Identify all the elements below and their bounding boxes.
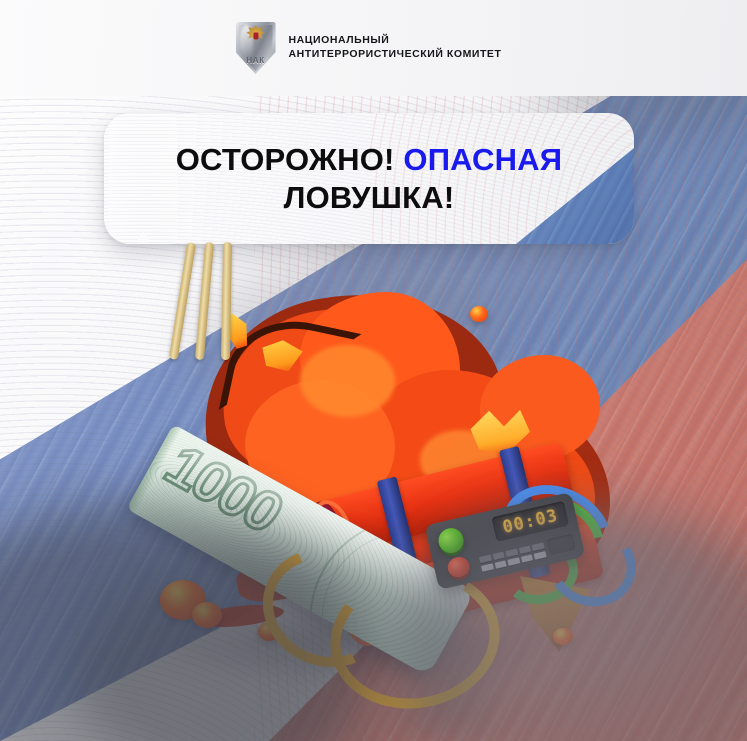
poster: НАК НАЦИОНАЛЬНЫЙ АНТИТЕРРОРИСТИЧЕСКИЙ КО… <box>0 0 747 741</box>
ember <box>553 628 573 645</box>
eagle-breast-shield-icon <box>253 33 258 40</box>
keypad-key <box>532 542 545 550</box>
organization-name: НАЦИОНАЛЬНЫЙ АНТИТЕРРОРИСТИЧЕСКИЙ КОМИТЕ… <box>289 34 502 62</box>
keypad-key <box>508 557 521 565</box>
emblem-abbreviation: НАК <box>236 56 276 65</box>
header-bar: НАК НАЦИОНАЛЬНЫЙ АНТИТЕРРОРИСТИЧЕСКИЙ КО… <box>0 0 747 96</box>
bomb-illustration: 1000 00:03 <box>0 250 747 741</box>
title-line-2: ЛОВУШКА! <box>284 180 455 216</box>
keypad-key <box>481 563 494 571</box>
title-line-1: ОСТОРОЖНО! ОПАСНАЯ <box>176 142 563 178</box>
keypad-key <box>492 552 505 560</box>
org-name-line2: АНТИТЕРРОРИСТИЧЕСКИЙ КОМИТЕТ <box>289 48 502 62</box>
rubber-band <box>169 242 196 360</box>
keypad-key <box>519 545 532 553</box>
title-accent-text: ОПАСНАЯ <box>403 142 562 177</box>
keypad-key <box>521 554 534 562</box>
timer-digits: 00:03 <box>501 505 560 537</box>
title-card: ОСТОРОЖНО! ОПАСНАЯ ЛОВУШКА! <box>104 113 634 244</box>
red-button-icon <box>446 555 472 579</box>
timer-display: 00:03 <box>491 501 569 542</box>
ember <box>470 306 488 322</box>
title-text-block: ОСТОРОЖНО! ОПАСНАЯ ЛОВУШКА! <box>104 113 634 244</box>
keypad-key <box>479 555 492 563</box>
green-button-icon <box>436 526 466 556</box>
keypad-key <box>534 551 547 559</box>
rubber-band <box>195 242 214 360</box>
ember <box>192 602 222 628</box>
timer-secondary-display <box>547 534 576 555</box>
org-name-line1: НАЦИОНАЛЬНЫЙ <box>289 34 502 48</box>
rubber-band <box>221 242 232 360</box>
nak-shield-emblem-icon: НАК <box>236 22 276 74</box>
keypad-key <box>505 549 518 557</box>
keypad-key <box>494 560 507 568</box>
title-plain-text: ОСТОРОЖНО! <box>176 142 395 177</box>
